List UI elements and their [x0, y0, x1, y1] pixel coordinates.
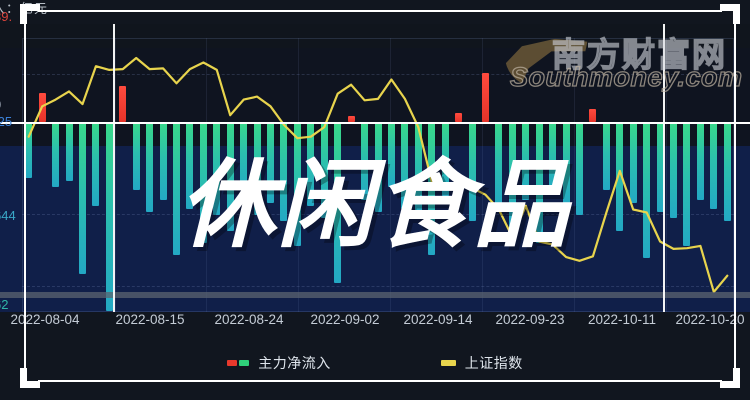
overlay-title: 休闲食品 — [0, 158, 750, 254]
x-axis-tick-label: 2022-08-24 — [214, 312, 283, 327]
y-axis-tick-label: 39. — [0, 9, 12, 24]
legend-item-shanghai-index[interactable]: 上证指数 — [441, 353, 523, 373]
x-axis-tick-label: 2022-08-04 — [10, 312, 79, 327]
y-axis-tick-label: .25 — [0, 114, 12, 129]
y-axis-tick-label: 62 — [0, 297, 8, 312]
legend-item-main-net-inflow[interactable]: 主力净流入 — [227, 353, 331, 373]
x-axis-labels: 2022-08-042022-08-152022-08-242022-09-02… — [0, 312, 750, 340]
legend-marker-line — [441, 360, 456, 366]
chart-legend: 主力净流入 上证指数 — [0, 348, 750, 378]
x-axis-tick-label: 2022-10-11 — [588, 312, 656, 327]
y-axis-tick-label: 0 — [0, 97, 1, 112]
frame-corner-top-right — [720, 4, 740, 24]
x-axis-tick-label: 2022-08-15 — [115, 312, 184, 327]
x-axis-tick-label: 2022-09-23 — [495, 312, 564, 327]
x-axis-tick-label: 2022-10-20 — [675, 312, 744, 327]
legend-marker-bar — [227, 360, 249, 366]
x-axis-tick-label: 2022-09-02 — [310, 312, 379, 327]
legend-label: 主力净流入 — [258, 353, 331, 373]
x-axis-tick-label: 2022-09-14 — [403, 312, 472, 327]
legend-label: 上证指数 — [465, 353, 523, 373]
chart-screenshot: 流入：亿元 39.0.2564462 2022-08-042022-08-152… — [0, 0, 750, 400]
